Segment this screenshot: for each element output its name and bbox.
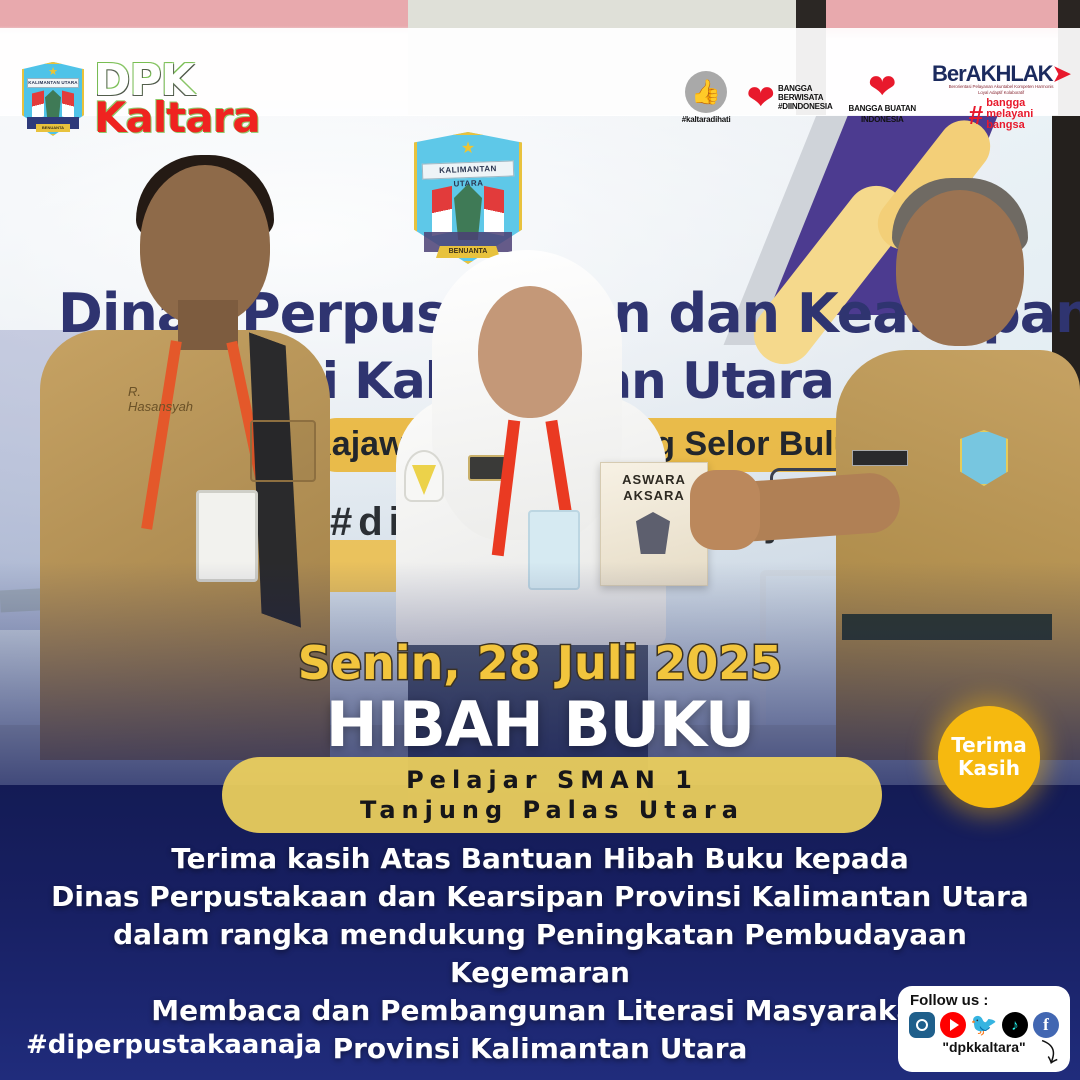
thumbs-up-icon: 👍 [685,71,727,113]
event-date: Senin, 28 Juli 2025 [0,636,1080,690]
paragraph-line-3: dalam rangka mendukung Peningkatan Pembu… [40,916,1040,992]
page-title: HIBAH BUKU [0,688,1080,761]
footer-hashtag: #diperpustakaanaja [26,1030,322,1060]
logo-berakhlak: BerAKHLAK➤ Berorientasi Pelayanan Akunta… [932,64,1070,131]
logo-bangga-berwisata: ❤ BANGGA BERWISATA #DIINDONESIA [747,83,833,113]
hash-icon: # [969,104,983,126]
berakhlak-title-text: BerAKHLAK [932,61,1053,86]
partner-logos: 👍 #kaltaradihati ❤ BANGGA BERWISATA #DII… [682,64,1070,131]
heart-icon: ❤ [868,72,897,102]
berakhlak-subtitle: Berorientasi Pelayanan Akuntabel Kompete… [943,84,1059,96]
brand-lockup: ★ KALIMANTAN UTARA BENUANTA DPK Kaltara [22,60,260,138]
follow-us-label: Follow us : [910,992,1062,1009]
bbi-line2: INDONESIA [861,115,904,124]
logo-kaltaradihati-caption: #kaltaradihati [682,115,731,124]
school-line1: Pelajar SMAN 1 [406,765,698,795]
paragraph-line-4: Membaca dan Pembangunan Literasi Masyara… [40,992,1040,1030]
youtube-icon[interactable] [940,1012,966,1038]
tiktok-icon[interactable]: ♪ [1002,1012,1028,1038]
arrow-icon: ➤ [1053,61,1070,86]
bmb-line3: bangsa [986,120,1033,131]
dpk-province-emblem-icon: ★ KALIMANTAN UTARA BENUANTA [22,62,84,136]
thanks-badge-line1: Terima [951,734,1027,757]
twitter-icon[interactable]: 🐦 [971,1012,997,1038]
bangga-melayani-bangsa: # bangga melayani bangsa [969,98,1034,131]
paragraph-line-1: Terima kasih Atas Bantuan Hibah Buku kep… [40,840,1040,878]
header-bar: ★ KALIMANTAN UTARA BENUANTA DPK Kaltara … [0,28,1080,116]
thanks-badge-line2: Kasih [958,757,1020,780]
logo-kaltaradihati: 👍 #kaltaradihati [682,71,731,124]
instagram-icon[interactable] [909,1012,935,1038]
brand-text: DPK Kaltara [94,60,260,138]
logo-bangga-berwisata-text: BANGGA BERWISATA #DIINDONESIA [778,84,833,111]
logo-bangga-buatan-indonesia: ❤ BANGGA BUATAN INDONESIA [849,72,916,124]
brand-line-kaltara: Kaltara [94,98,260,138]
bb-line2: BERWISATA [778,93,833,102]
heart-icon: ❤ [747,83,776,113]
paragraph-line-2: Dinas Perpustakaan dan Kearsipan Provins… [40,878,1040,916]
dpk-emblem-motto: BENUANTA [36,124,70,132]
bbi-line1: BANGGA BUATAN [849,104,916,113]
berakhlak-title: BerAKHLAK➤ [932,64,1070,84]
follow-us-box: Follow us : 🐦 ♪ f "dpkkaltara" ⤵ [898,986,1070,1072]
school-badge: Pelajar SMAN 1 Tanjung Palas Utara [222,757,882,833]
dpk-emblem-ribbon-text: KALIMANTAN UTARA [28,79,78,87]
school-line2: Tanjung Palas Utara [360,795,744,825]
bb-line1: BANGGA [778,84,833,93]
thanks-badge: Terima Kasih [938,706,1040,808]
bb-line3: #DIINDONESIA [778,102,833,111]
poster-canvas: ★ KALIMANTAN UTARA BENUANTA Dinas Perpus… [0,0,1080,1080]
social-icons: 🐦 ♪ f [906,1012,1062,1038]
